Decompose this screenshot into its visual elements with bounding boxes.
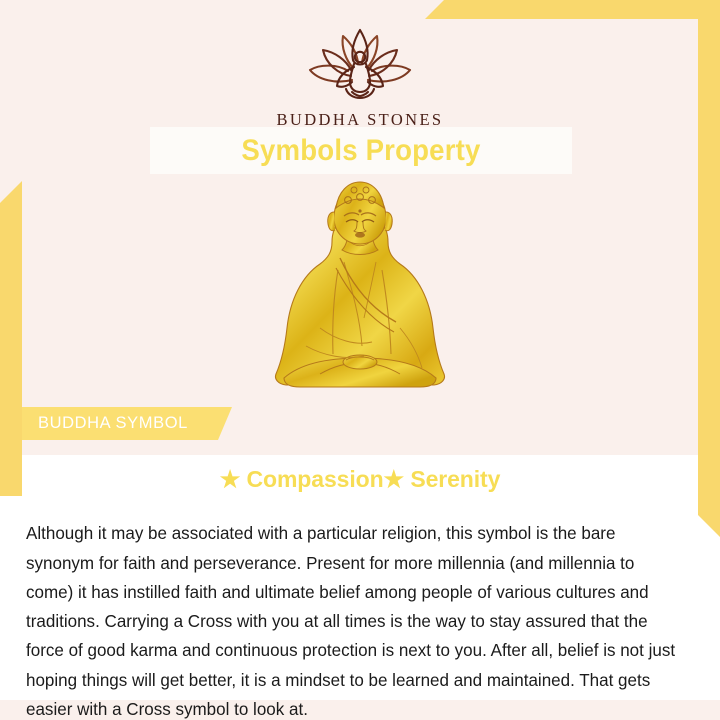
brand-block: BUDDHA STONES (0, 26, 720, 130)
page-title: Symbols Property (241, 134, 480, 168)
golden-buddha-statue-illustration (260, 178, 460, 414)
lotus-meditation-icon (296, 26, 424, 104)
top-right-accent-bar (425, 0, 720, 19)
poster-canvas: BUDDHA STONES Symbols Property (0, 0, 720, 720)
section-headline: ★ Compassion★ Serenity (0, 466, 720, 493)
section-body-text: Although it may be associated with a par… (26, 519, 684, 720)
title-band: Symbols Property (150, 127, 572, 174)
left-accent-bar (0, 181, 22, 496)
category-label-banner: BUDDHA SYMBOL (22, 407, 232, 440)
hero-image-container (0, 178, 720, 418)
category-label-text: BUDDHA SYMBOL (22, 414, 188, 433)
